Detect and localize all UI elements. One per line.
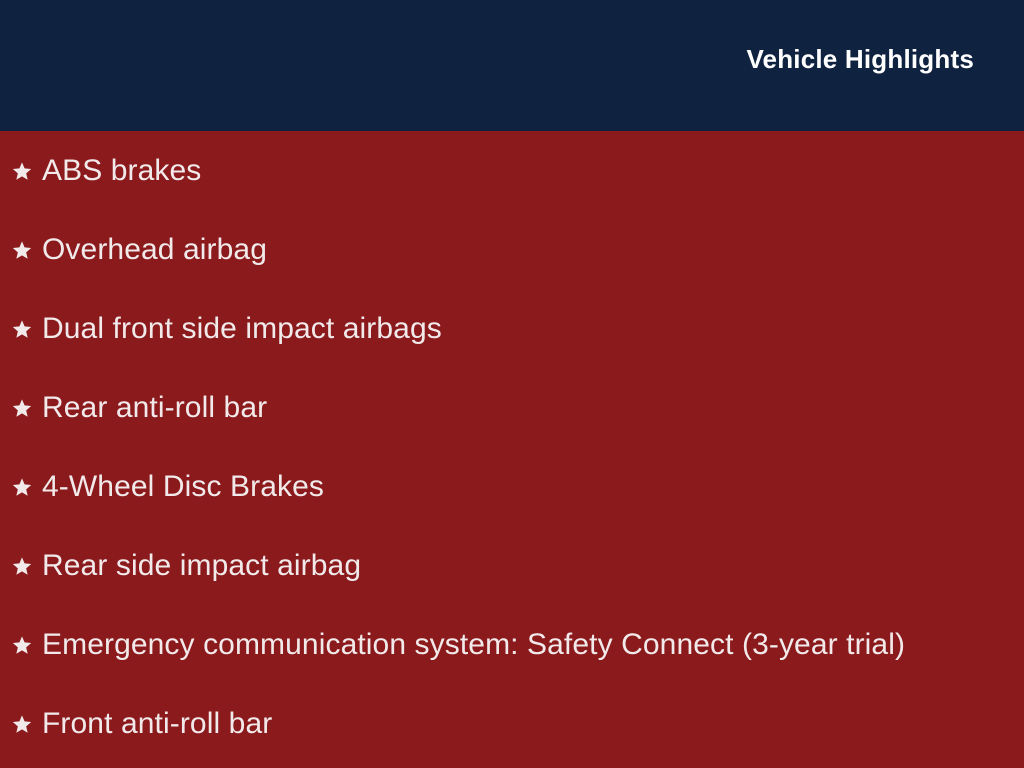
list-item-label: Overhead airbag: [42, 235, 267, 265]
list-item: Rear side impact airbag: [0, 526, 1024, 605]
list-item-label: Rear side impact airbag: [42, 551, 361, 581]
list-item: Front anti-roll bar: [0, 684, 1024, 763]
list-item: Rear anti-roll bar: [0, 368, 1024, 447]
star-icon: [12, 398, 32, 418]
list-item-label: Front anti-roll bar: [42, 709, 272, 739]
star-icon: [12, 477, 32, 497]
slide-header: Vehicle Highlights: [0, 0, 1024, 131]
list-item-label: Emergency communication system: Safety C…: [42, 630, 905, 660]
list-item: ABS brakes: [0, 131, 1024, 210]
list-item-label: Dual front side impact airbags: [42, 314, 442, 344]
star-icon: [12, 714, 32, 734]
star-icon: [12, 556, 32, 576]
slide-root: Vehicle Highlights ABS brakes Overhead a…: [0, 0, 1024, 768]
star-icon: [12, 319, 32, 339]
list-item-label: 4-Wheel Disc Brakes: [42, 472, 324, 502]
page-title: Vehicle Highlights: [746, 46, 974, 72]
list-item: Dual front side impact airbags: [0, 289, 1024, 368]
star-icon: [12, 161, 32, 181]
vehicle-highlights-list: ABS brakes Overhead airbag Dual front si…: [0, 131, 1024, 763]
list-item: 4-Wheel Disc Brakes: [0, 447, 1024, 526]
slide-body: ABS brakes Overhead airbag Dual front si…: [0, 131, 1024, 768]
list-item-label: Rear anti-roll bar: [42, 393, 267, 423]
list-item-label: ABS brakes: [42, 156, 201, 186]
list-item: Emergency communication system: Safety C…: [0, 605, 1024, 684]
list-item: Overhead airbag: [0, 210, 1024, 289]
star-icon: [12, 635, 32, 655]
star-icon: [12, 240, 32, 260]
